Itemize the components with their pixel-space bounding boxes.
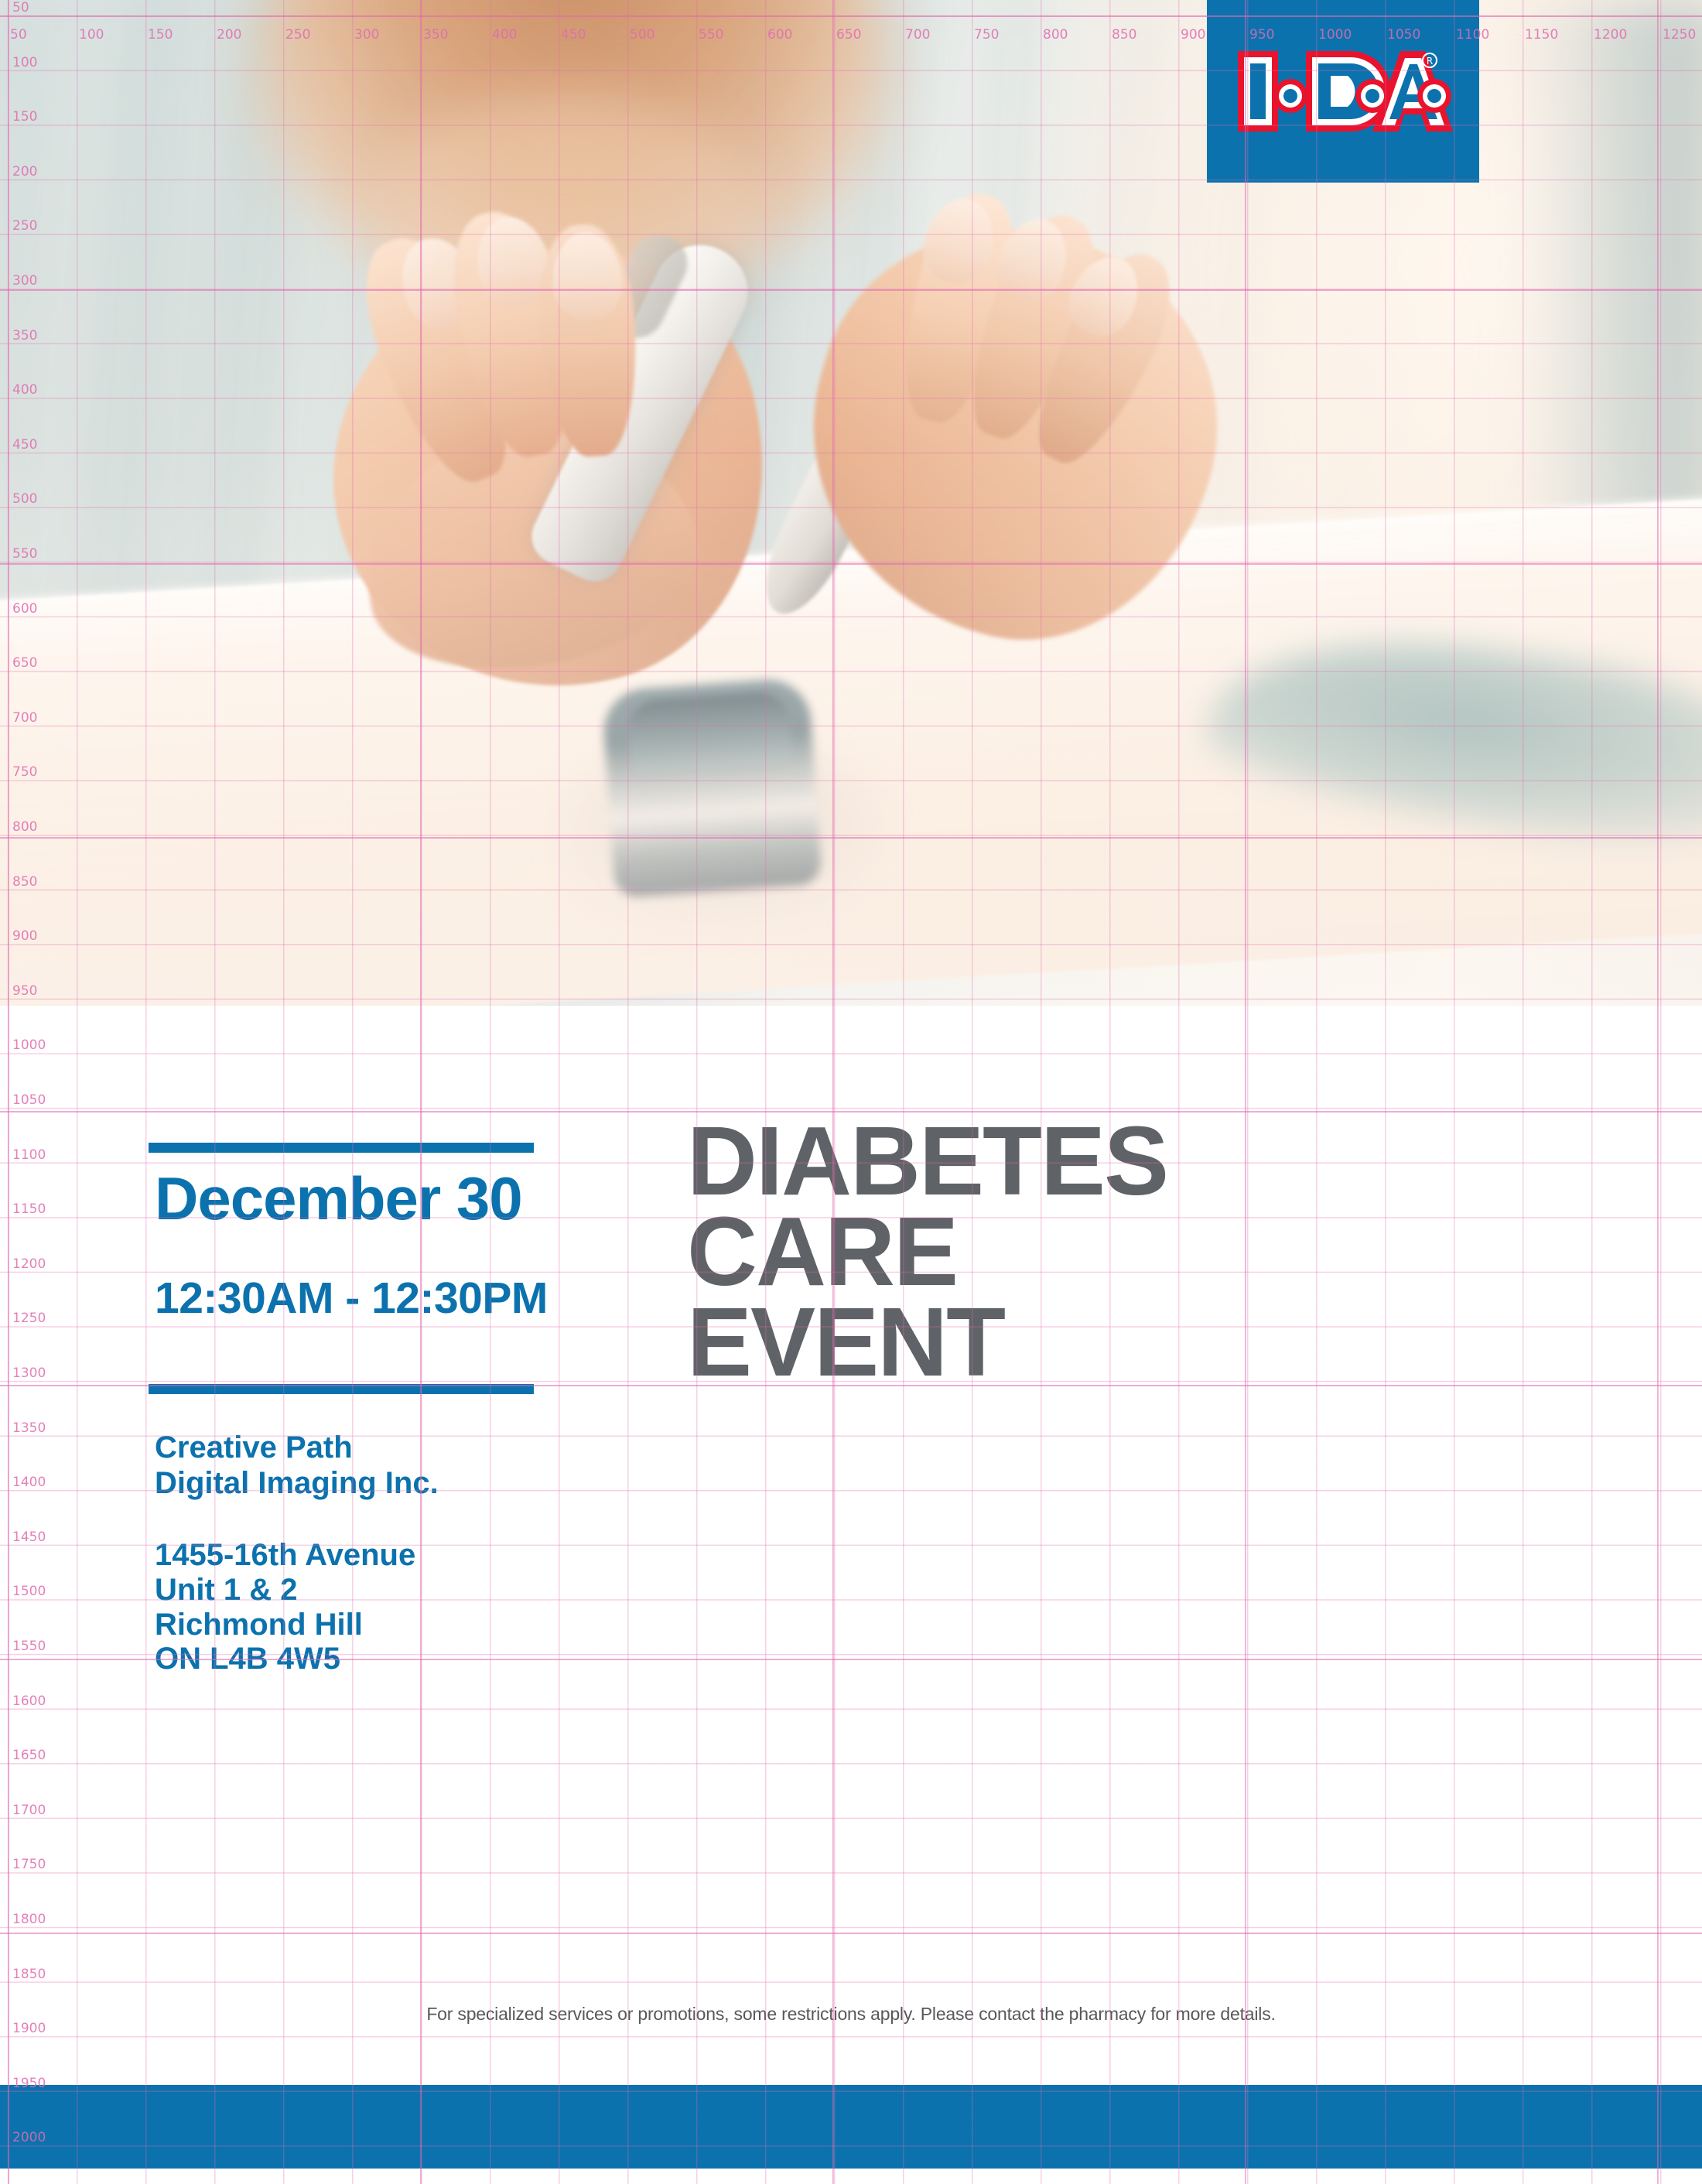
poster-canvas: December 30 12:30AM - 12:30PM Creative P… <box>0 0 1702 2184</box>
address-line-4: ON L4B 4W5 <box>155 1642 696 1676</box>
svg-text:R: R <box>1427 56 1433 67</box>
address-line-2: Unit 1 & 2 <box>155 1573 696 1608</box>
date-rule-top <box>149 1143 534 1153</box>
headline-line-1: DIABETES <box>687 1116 1383 1206</box>
disclaimer-text: For specialized services or promotions, … <box>0 2004 1702 2025</box>
page-title: DIABETES CARE EVENT <box>687 1116 1383 1388</box>
poster-content: December 30 12:30AM - 12:30PM Creative P… <box>0 0 1702 2184</box>
pharmacy-name-line-2: Digital Imaging Inc. <box>155 1465 696 1501</box>
footer-bar <box>0 2085 1702 2169</box>
address-line-3: Richmond Hill <box>155 1608 696 1642</box>
address-line-1: 1455-16th Avenue <box>155 1538 696 1573</box>
headline-line-2: CARE <box>687 1206 1383 1297</box>
ida-logo-box: R <box>1207 0 1479 183</box>
event-time: 12:30AM - 12:30PM <box>155 1277 696 1321</box>
pharmacy-name-line-1: Creative Path <box>155 1430 696 1465</box>
headline-line-3: EVENT <box>687 1297 1383 1387</box>
pharmacy-name: Creative Path Digital Imaging Inc. <box>155 1430 696 1502</box>
date-rule-bottom <box>149 1384 534 1394</box>
event-date: December 30 <box>155 1168 696 1229</box>
pharmacy-address: 1455-16th Avenue Unit 1 & 2 Richmond Hil… <box>155 1538 696 1676</box>
ida-logo-icon: R <box>1235 48 1453 135</box>
